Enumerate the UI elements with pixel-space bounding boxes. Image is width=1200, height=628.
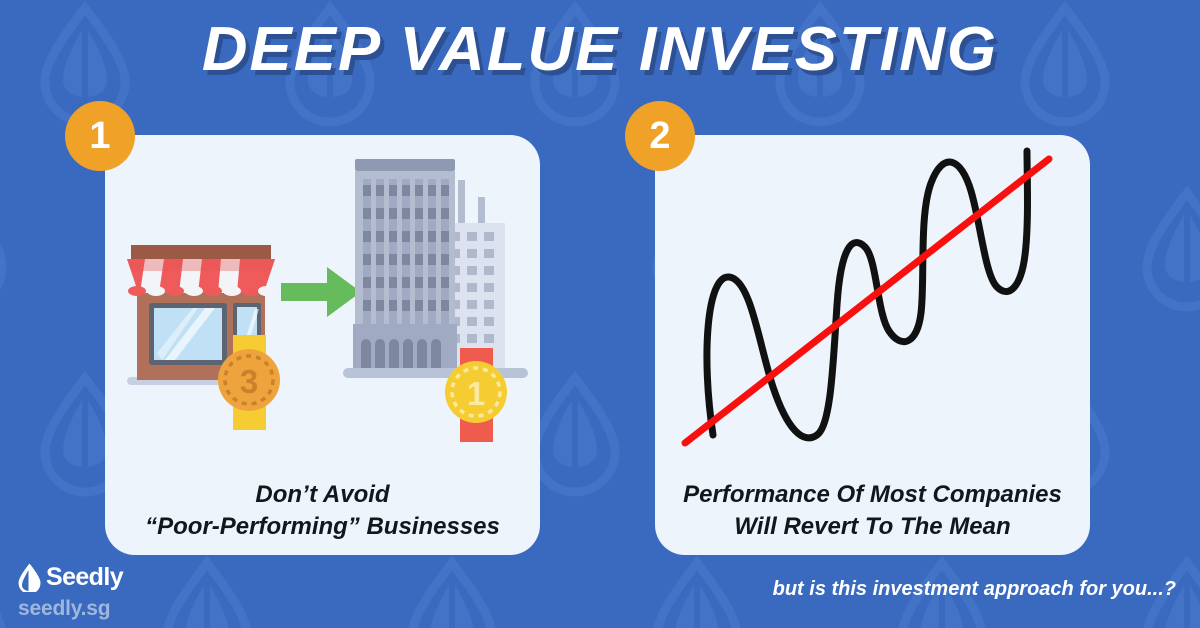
shop-to-building-illustration: 3 bbox=[105, 135, 540, 480]
card-2-caption: Performance Of Most Companies Will Rever… bbox=[655, 479, 1090, 542]
seedly-url: seedly.sg bbox=[18, 598, 123, 619]
office-building-icon bbox=[343, 159, 528, 378]
svg-text:1: 1 bbox=[467, 375, 485, 412]
seedly-wordmark: Seedly bbox=[46, 565, 123, 590]
page-title: DEEP VALUE INVESTING bbox=[0, 14, 1200, 85]
card-deep-value-point-1: 3 bbox=[105, 135, 540, 555]
mean-reversion-chart bbox=[655, 135, 1090, 480]
right-arrow-icon bbox=[281, 267, 361, 317]
card-2-number-badge: 2 bbox=[625, 101, 695, 171]
seedly-leaf-icon bbox=[18, 563, 41, 592]
chart-series-company-performance bbox=[707, 151, 1028, 438]
card-1-caption-line-2: “Poor-Performing” Businesses bbox=[105, 511, 540, 543]
card-1-number-badge: 1 bbox=[65, 101, 135, 171]
card-deep-value-point-2: Performance Of Most Companies Will Rever… bbox=[655, 135, 1090, 555]
footer-tagline: but is this investment approach for you.… bbox=[773, 578, 1176, 601]
chart-series-mean-trend bbox=[685, 159, 1049, 443]
footer-branding: Seedly seedly.sg bbox=[18, 563, 123, 619]
svg-text:3: 3 bbox=[240, 363, 258, 400]
card-2-caption-line-1: Performance Of Most Companies bbox=[655, 479, 1090, 511]
card-2-caption-line-2: Will Revert To The Mean bbox=[655, 511, 1090, 543]
card-1-caption: Don’t Avoid “Poor-Performing” Businesses bbox=[105, 479, 540, 542]
card-1-caption-line-1: Don’t Avoid bbox=[105, 479, 540, 511]
